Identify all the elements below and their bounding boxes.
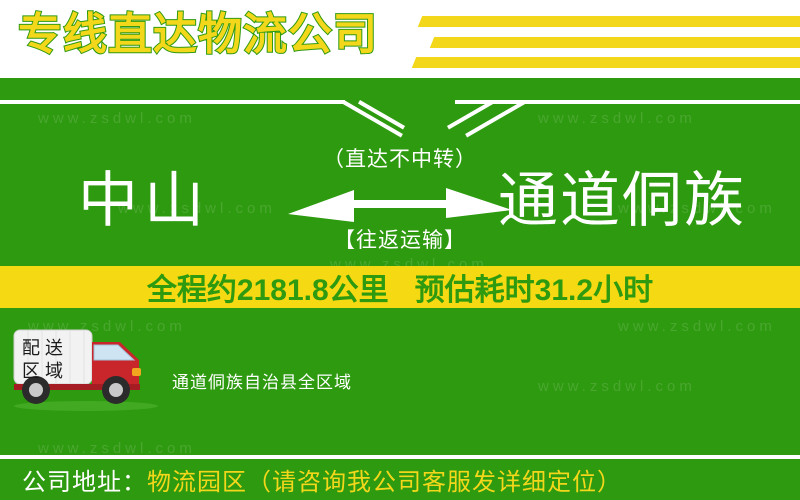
delivery-truck-icon: 配 送 区 域 配 送 区 域 [8,324,163,414]
origin-city: 中山 [78,171,210,231]
roundtrip-note: 【往返运输】 [300,224,500,254]
direct-service-note: （直达不中转） [300,143,500,173]
divider-line-right [455,100,800,104]
distance-text-group: 全程约2181.8公里预估耗时31.2小时 [147,265,653,309]
distance-band: 全程约2181.8公里预估耗时31.2小时 [0,266,800,308]
header-stripe-3 [412,57,800,68]
divider-line-left [0,100,345,104]
chevron-down-icon-inner [360,100,440,134]
destination-city: 通道侗族 [498,171,746,231]
watermark: www.zsdwl.com [538,378,696,395]
header-stripe-2 [430,37,800,48]
banner-header: 专线直达物流公司 [0,0,800,78]
watermark: www.zsdwl.com [538,110,696,127]
svg-text:配 送: 配 送 [22,338,63,358]
company-title: 专线直达物流公司 [18,6,378,64]
svg-text:区 域: 区 域 [22,361,63,381]
watermark: www.zsdwl.com [38,110,196,127]
total-distance: 全程约2181.8公里 [147,274,389,307]
coverage-area-text: 通道侗族自治县全区域 [172,368,352,393]
footer-address-label: 公司地址： [22,462,147,497]
logistics-route-banner: 专线直达物流公司 www.zsdwl.com www.zsdwl.com www… [0,0,800,500]
watermark: www.zsdwl.com [618,318,776,335]
banner-body: www.zsdwl.com www.zsdwl.com www.zsdwl.co… [0,78,800,500]
footer-address-value: 物流园区（请咨询我公司客服发详细定位） [147,462,622,497]
footer-address-bar: 公司地址： 物流园区（请咨询我公司客服发详细定位） [0,459,800,500]
double-arrow-icon [288,184,512,226]
header-stripe-1 [418,16,800,27]
estimated-duration: 预估耗时31.2小时 [415,274,653,307]
